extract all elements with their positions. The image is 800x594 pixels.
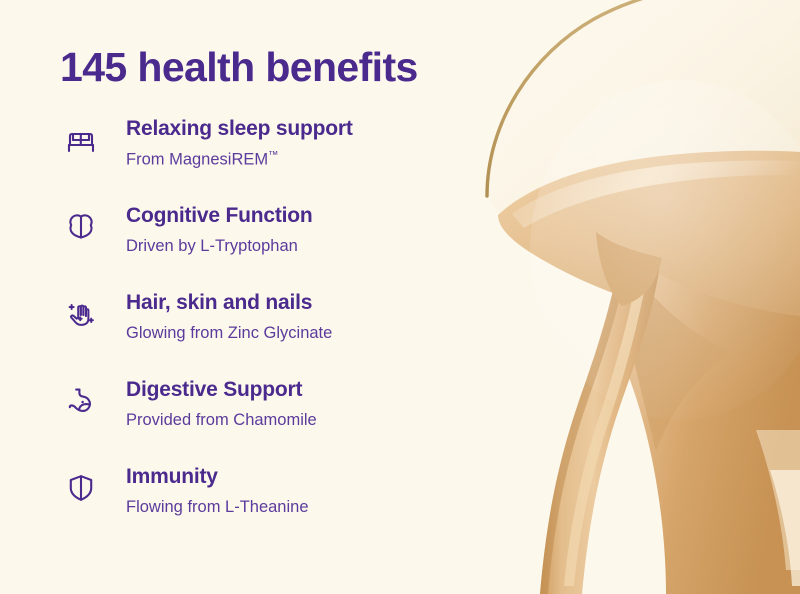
benefit-subtitle: Driven by L-Tryptophan	[126, 236, 313, 257]
promo-banner: 145 health benefits Relaxing sleep suppo…	[0, 0, 800, 594]
bed-icon	[60, 119, 102, 161]
benefit-subtitle: Provided from Chamomile	[126, 410, 317, 431]
benefit-subtitle: From MagnesiREM™	[126, 149, 353, 171]
page-title: 145 health benefits	[60, 44, 500, 91]
benefit-title: Relaxing sleep support	[126, 117, 353, 142]
benefit-item: Digestive Support Provided from Chamomil…	[60, 378, 500, 465]
product-photo	[470, 0, 800, 594]
sparkle-hand-icon	[60, 293, 102, 335]
benefit-title: Immunity	[126, 465, 309, 490]
benefit-item: Hair, skin and nails Glowing from Zinc G…	[60, 291, 500, 378]
shield-icon	[60, 467, 102, 509]
benefit-title: Digestive Support	[126, 378, 317, 403]
benefit-subtitle-text: From MagnesiREM	[126, 150, 268, 168]
benefit-item: Immunity Flowing from L-Theanine	[60, 465, 500, 552]
benefits-panel: 145 health benefits Relaxing sleep suppo…	[0, 0, 500, 594]
benefit-title: Hair, skin and nails	[126, 291, 332, 316]
pouring-beverage-illustration	[470, 0, 800, 594]
benefit-item: Relaxing sleep support From MagnesiREM™	[60, 117, 500, 204]
brain-icon	[60, 206, 102, 248]
stomach-icon	[60, 380, 102, 422]
benefit-subtitle: Glowing from Zinc Glycinate	[126, 323, 332, 344]
benefit-subtitle: Flowing from L-Theanine	[126, 497, 309, 518]
benefit-item: Cognitive Function Driven by L-Tryptopha…	[60, 204, 500, 291]
trademark-symbol: ™	[268, 150, 278, 161]
benefit-title: Cognitive Function	[126, 204, 313, 229]
